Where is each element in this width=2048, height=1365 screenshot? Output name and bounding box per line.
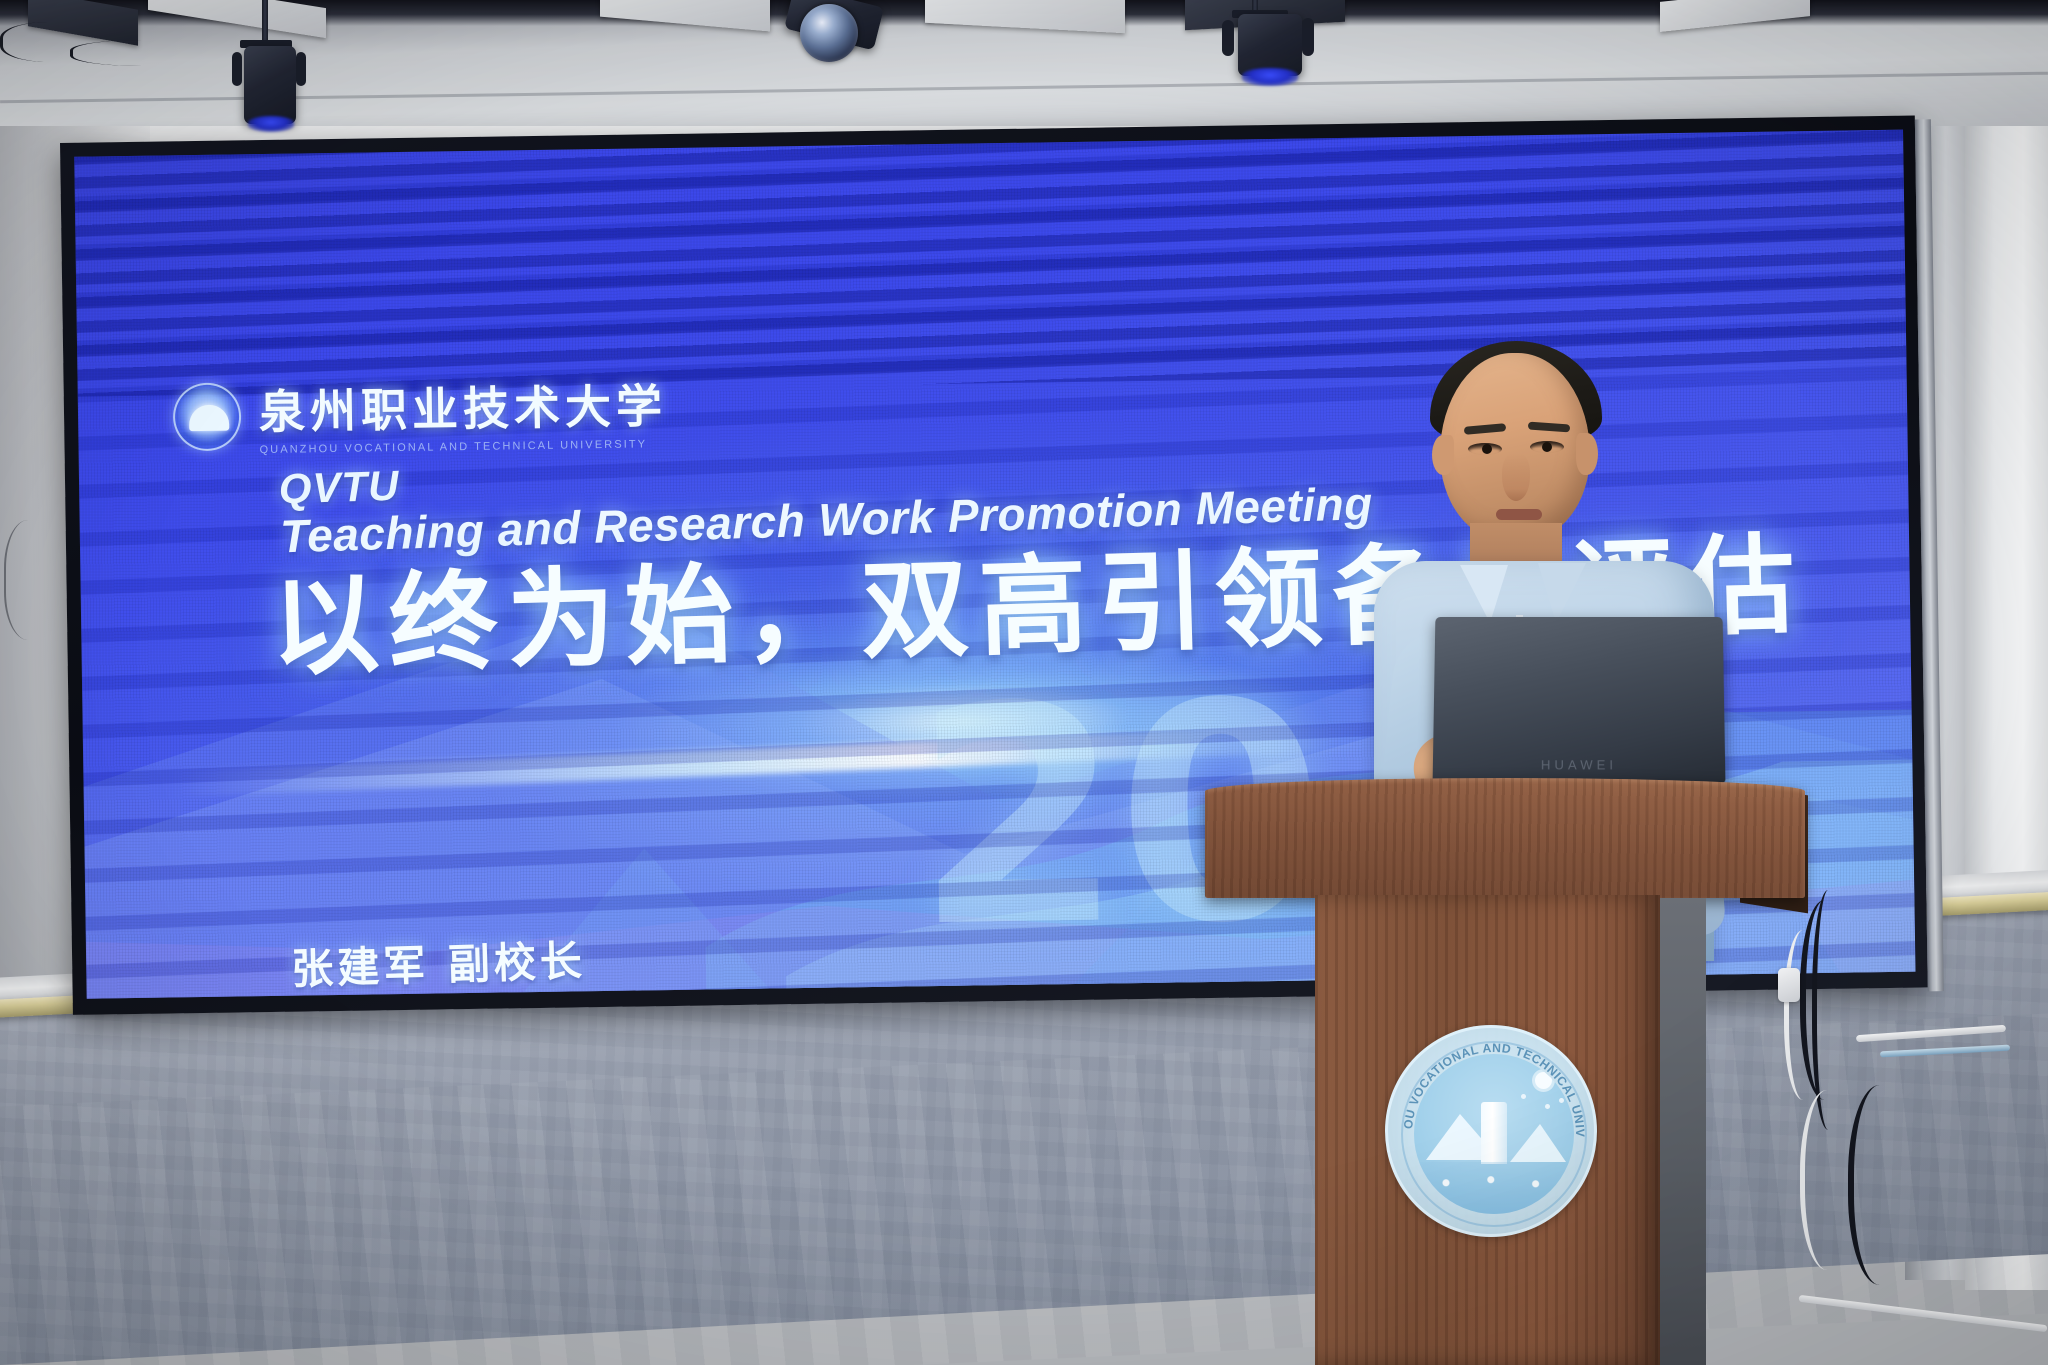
- speaker-ear-left: [1432, 435, 1454, 475]
- speaker-mouth: [1496, 509, 1542, 520]
- podium-university-seal: QUANZHOU VOCATIONAL AND TECHNICAL UNIVER…: [1385, 1025, 1597, 1237]
- speaker-pupil-right: [1542, 442, 1552, 452]
- speaker-nose: [1502, 453, 1530, 501]
- podium-side-panel: [1660, 898, 1706, 1365]
- podium-top: [1205, 778, 1805, 898]
- stage-scene: 20 泉州职业技术大学 QUANZHOU VOCATIONAL AND TECH…: [0, 0, 2048, 1365]
- seal-mountain-right: [1510, 1124, 1566, 1162]
- university-lockup: 泉州职业技术大学 QUANZHOU VOCATIONAL AND TECHNIC…: [172, 370, 667, 457]
- seal-illustration: [1414, 1054, 1574, 1214]
- speaker-collar-left: [1460, 565, 1508, 623]
- speaker-collar-right: [1538, 563, 1586, 623]
- seal-waves: [1414, 1162, 1574, 1214]
- cable-plug: [1778, 968, 1800, 1002]
- speaker-pupil-left: [1482, 444, 1492, 454]
- university-name-cn: 泉州职业技术大学: [258, 370, 667, 442]
- seal-sun-icon: [1535, 1072, 1552, 1089]
- speaker-credit: 张建军 副校长: [290, 927, 586, 996]
- speaker-ear-right: [1576, 433, 1598, 475]
- university-emblem-icon: [173, 382, 242, 451]
- laptop-brand-label: HUAWEI: [1433, 757, 1725, 772]
- laptop[interactable]: HUAWEI: [1433, 617, 1726, 783]
- wall-cable-left: [4, 520, 64, 640]
- seal-tower: [1481, 1102, 1507, 1164]
- floor-cable-white-run: [1799, 1295, 2048, 1332]
- ceiling-cable-2: [70, 40, 250, 66]
